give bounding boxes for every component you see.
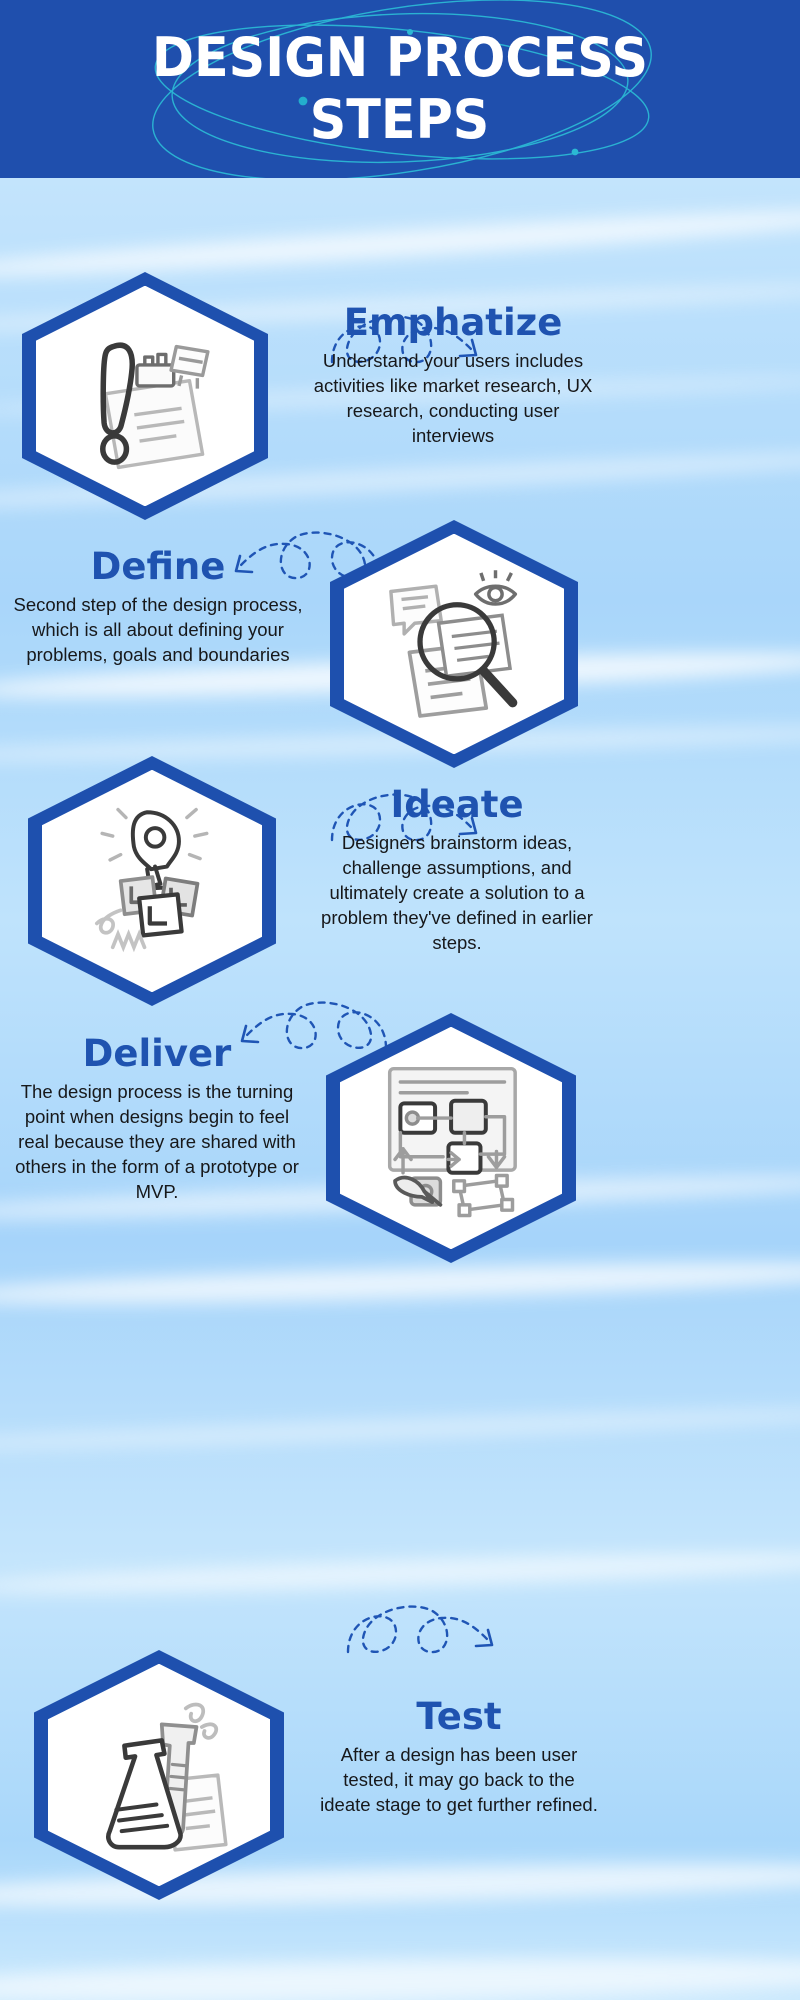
- step-body-ideate: Designers brainstorm ideas, challenge as…: [316, 830, 598, 955]
- step-title-deliver: Deliver: [8, 1033, 306, 1075]
- title-line-1: DESIGN PROCESS: [152, 28, 648, 88]
- magnifier-document-icon: [375, 565, 534, 724]
- header-banner: DESIGN PROCESS STEPS: [0, 0, 800, 178]
- lightbulb-notes-icon: [73, 801, 232, 961]
- hexagon-deliver: [326, 1013, 576, 1263]
- hexagon-emphatize: [22, 272, 268, 520]
- hexagon-test: [34, 1650, 284, 1900]
- text-block-emphatize: Emphatize Understand your users includes…: [312, 302, 594, 448]
- infographic-page: DESIGN PROCESS STEPS: [0, 0, 800, 2000]
- step-title-ideate: Ideate: [316, 784, 598, 826]
- wireframe-pen-icon: [371, 1058, 531, 1218]
- step-body-define: Second step of the design process, which…: [12, 592, 304, 667]
- title-line-2: STEPS: [310, 90, 490, 150]
- page-title: DESIGN PROCESS STEPS: [0, 0, 800, 178]
- text-block-define: Define Second step of the design process…: [12, 546, 304, 667]
- step-title-define: Define: [12, 546, 304, 588]
- step-title-test: Test: [320, 1696, 598, 1738]
- flask-testtube-icon: [79, 1695, 239, 1855]
- hexagon-define: [330, 520, 578, 768]
- text-block-deliver: Deliver The design process is the turnin…: [8, 1033, 306, 1204]
- step-body-deliver: The design process is the turning point …: [8, 1079, 306, 1204]
- step-body-test: After a design has been user tested, it …: [320, 1742, 598, 1817]
- step-title-emphatize: Emphatize: [312, 302, 594, 344]
- step-body-emphatize: Understand your users includes activitie…: [312, 348, 594, 448]
- arrow-to-test: [338, 1590, 508, 1670]
- hexagon-ideate: [28, 756, 276, 1006]
- exclamation-document-icon: [66, 317, 224, 476]
- text-block-ideate: Ideate Designers brainstorm ideas, chall…: [316, 784, 598, 955]
- text-block-test: Test After a design has been user tested…: [320, 1696, 598, 1817]
